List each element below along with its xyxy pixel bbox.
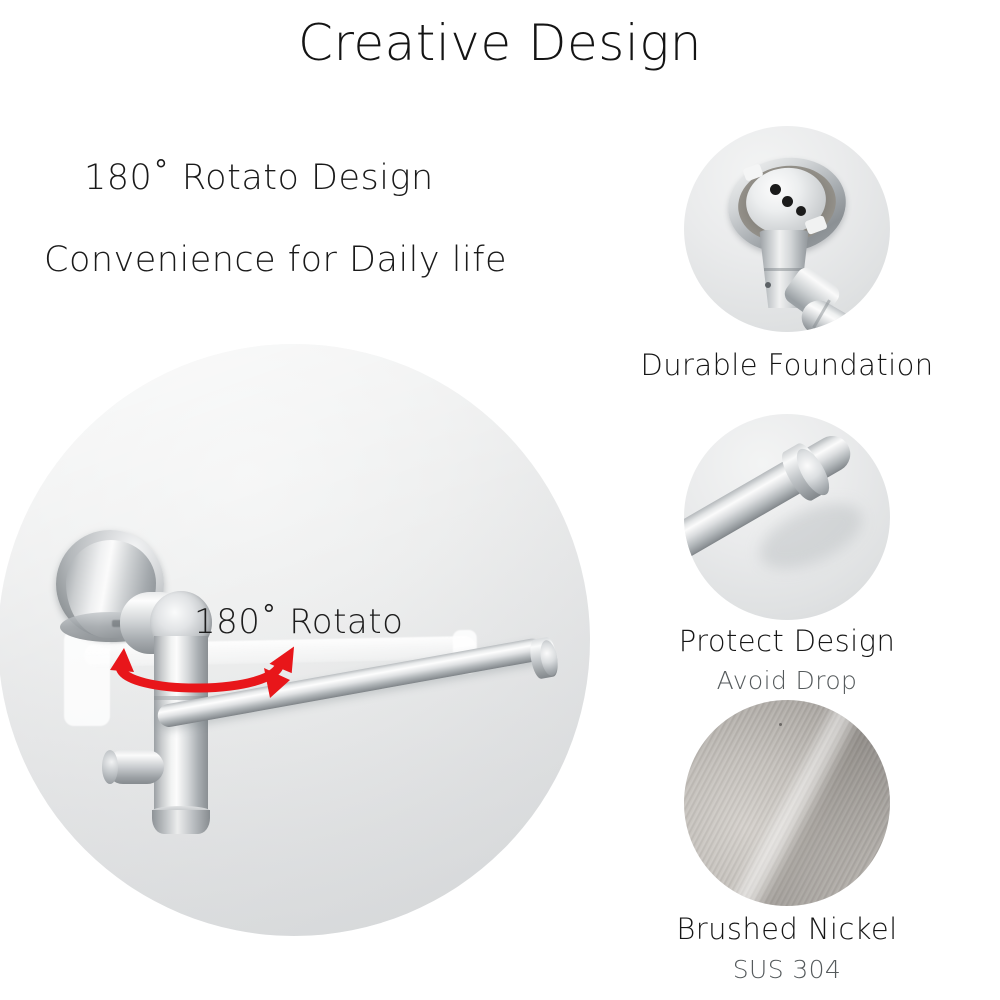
screw-hole xyxy=(782,196,793,207)
post-bottom-cap xyxy=(152,810,210,834)
headline-convenience: Convenience for Daily life xyxy=(44,240,507,280)
feature-subcaption-avoid-drop: Avoid Drop xyxy=(577,666,997,695)
product-infographic: Creative Design 180˚ Rotato Design Conve… xyxy=(0,0,1000,1000)
screw-hole xyxy=(770,184,781,195)
feature-subcaption-sus304: SUS 304 xyxy=(577,955,997,984)
feature-image-durable-foundation xyxy=(684,126,890,332)
feature-caption-protect-design: Protect Design xyxy=(577,624,997,658)
hero-product-circle: 180˚ Rotato xyxy=(0,344,590,936)
feature-caption-brushed-nickel: Brushed Nickel xyxy=(577,912,997,946)
headline-rotato-design: 180˚ Rotato Design xyxy=(84,158,434,198)
nickel-speck xyxy=(779,723,782,726)
feature-caption-durable-foundation: Durable Foundation xyxy=(577,348,997,382)
pivot-post xyxy=(154,636,208,826)
hero-rotato-label: 180˚ Rotato xyxy=(194,602,403,642)
set-screw xyxy=(765,282,771,288)
page-title: Creative Design xyxy=(0,14,1000,72)
feature-image-brushed-nickel xyxy=(684,700,890,906)
screw-hole xyxy=(796,206,806,216)
post-stub-pin-cap xyxy=(102,750,118,784)
feature-image-protect-design xyxy=(684,414,890,620)
